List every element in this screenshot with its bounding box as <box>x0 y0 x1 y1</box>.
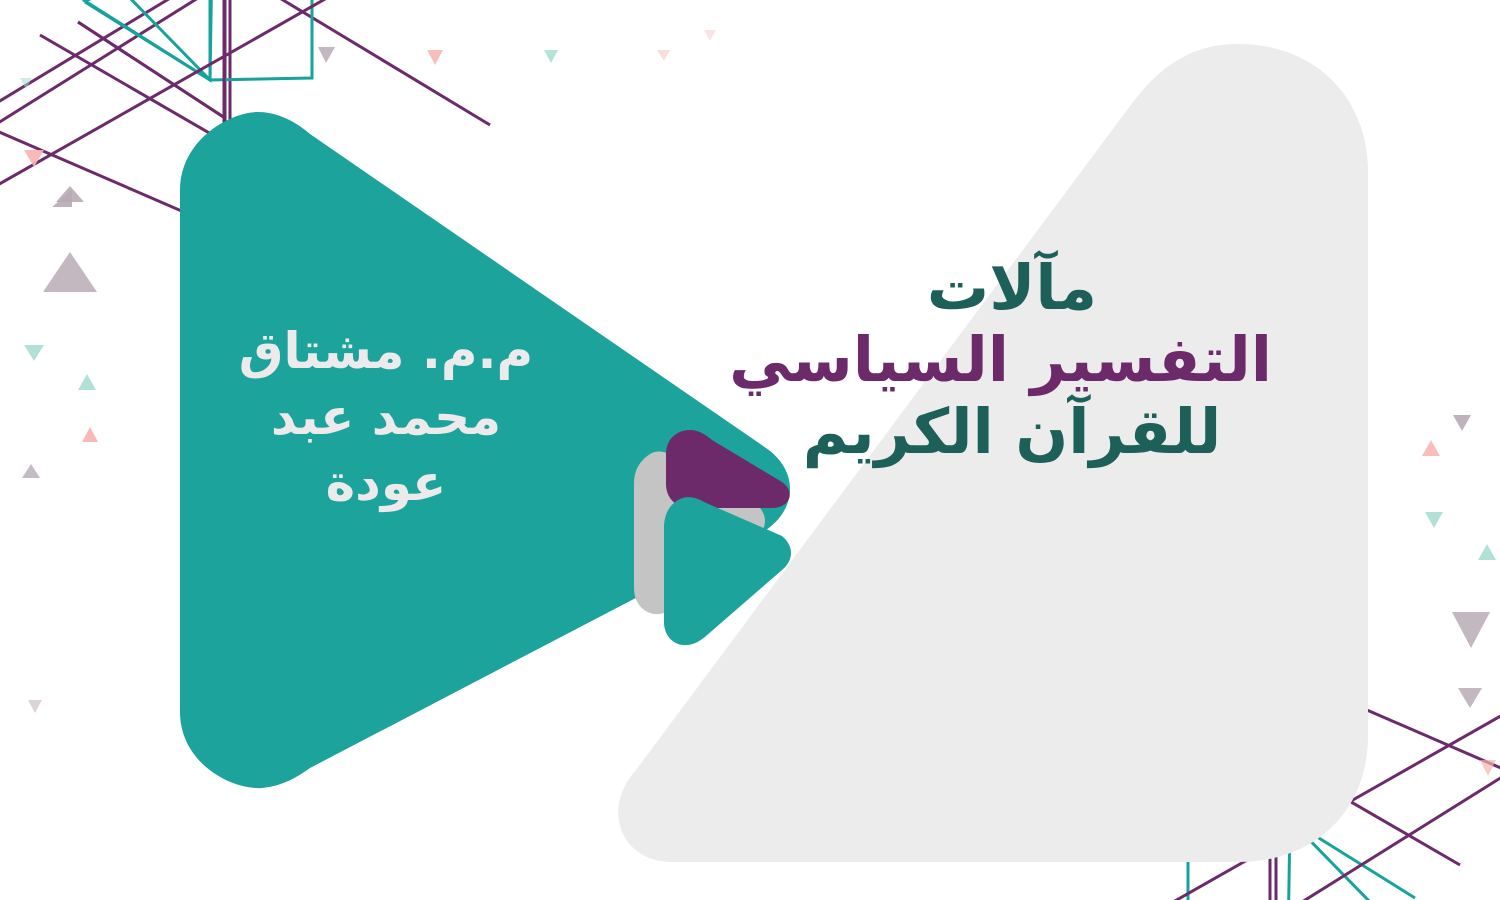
author-line-3: عودة <box>176 450 596 516</box>
author-line-2: محمد عبد <box>176 384 596 450</box>
slide-title: مآلات التفسير السياسي للقرآن الكريم <box>752 252 1272 468</box>
title-slide: مآلات التفسير السياسي للقرآن الكريم م.م.… <box>0 0 1500 900</box>
title-line-1: مآلات <box>752 252 1272 324</box>
author-name: م.م. مشتاق محمد عبد عودة <box>176 318 596 516</box>
title-line-3: للقرآن الكريم <box>752 396 1272 468</box>
author-line-1: م.م. مشتاق <box>176 318 596 384</box>
text-layer: مآلات التفسير السياسي للقرآن الكريم م.م.… <box>0 0 1500 900</box>
title-line-2: التفسير السياسي <box>752 324 1272 396</box>
